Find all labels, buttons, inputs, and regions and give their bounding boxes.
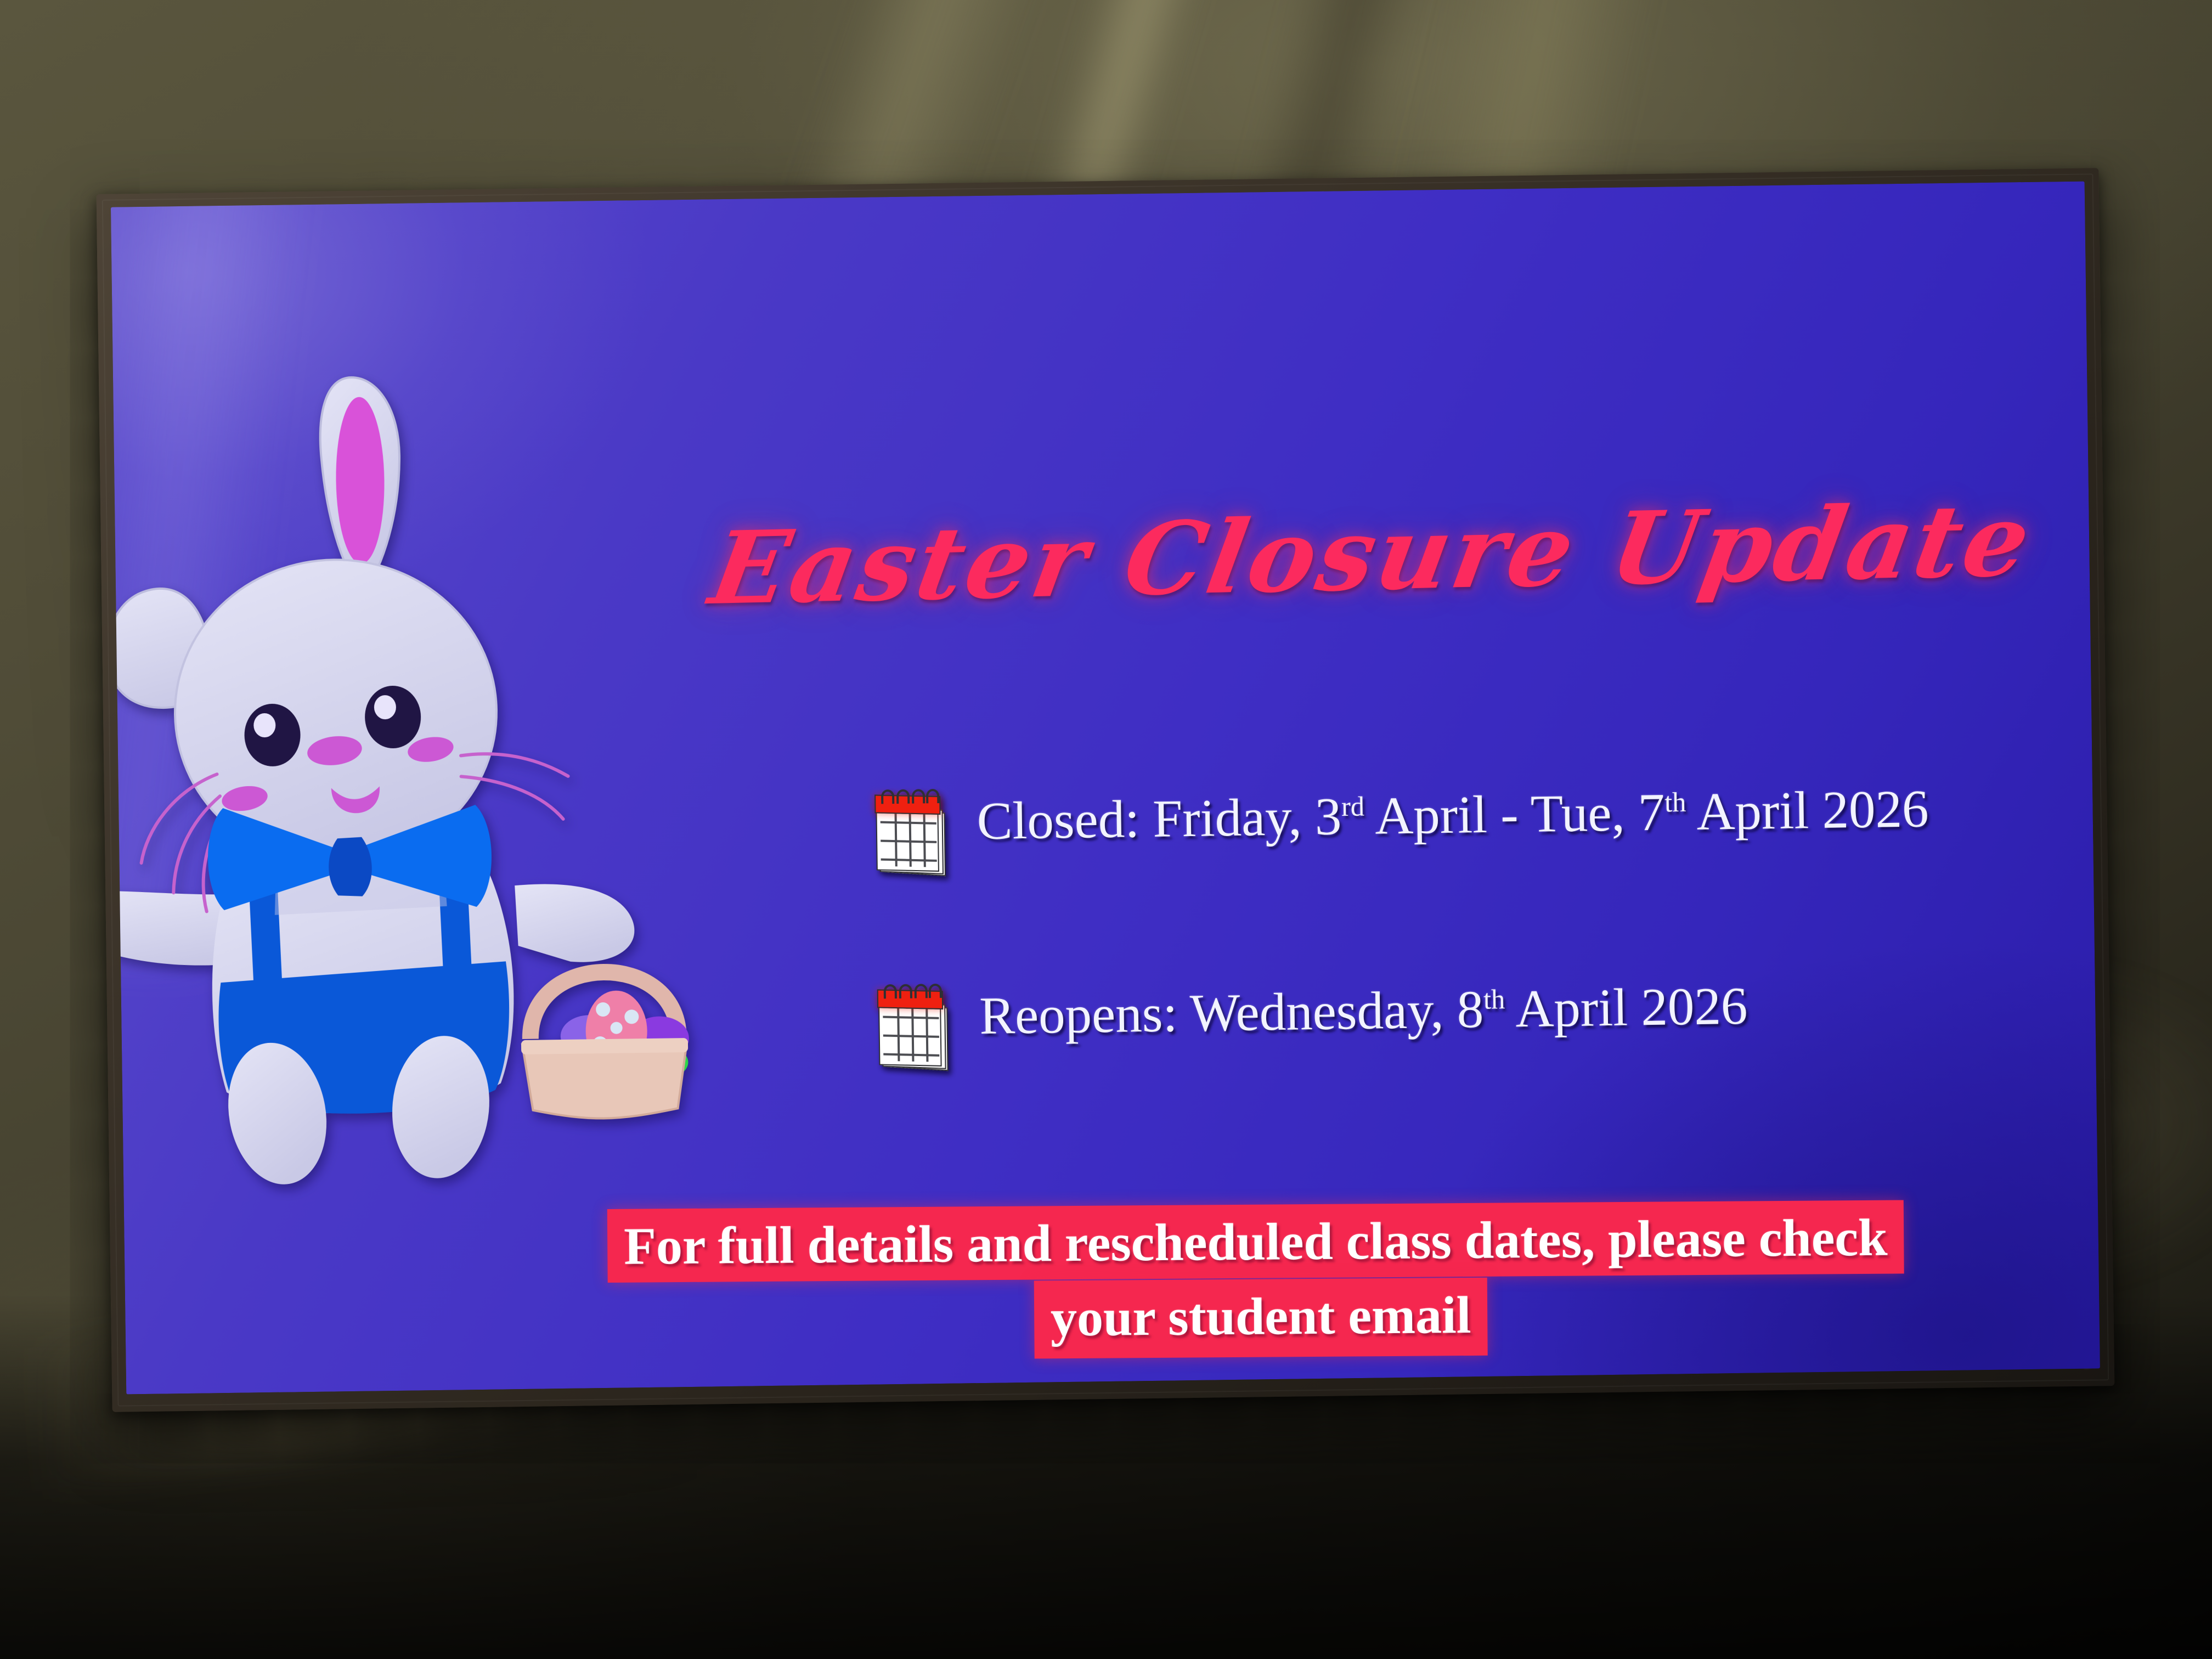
- closed-date-mid: April - Tue, 7: [1364, 783, 1665, 845]
- bullet-row-closed: Closed: Friday, 3rd April - Tue, 7th Apr…: [874, 777, 2039, 877]
- basket-rim: [521, 1038, 688, 1054]
- reopens-ordinal: th: [1483, 984, 1505, 1015]
- notice-banner-line-1-wrap: For full details and rescheduled class d…: [607, 1199, 2045, 1283]
- notice-banner: For full details and rescheduled class d…: [607, 1199, 2046, 1362]
- reopens-label: Reopens:: [979, 984, 1178, 1045]
- easter-basket: [520, 971, 690, 1119]
- easter-bunny-illustration: [111, 329, 710, 1193]
- closed-ordinal-1: rd: [1341, 791, 1365, 822]
- notice-banner-line-2-wrap: your student email: [608, 1274, 2046, 1362]
- bullet-row-reopens: Reopens: Wednesday, 8th April 2026: [877, 971, 2096, 1071]
- wall-mounted-display: Easter Closure Update: [97, 168, 2115, 1412]
- reopens-date-mid: April 2026: [1505, 977, 1748, 1039]
- bullet-text-closed: Closed: Friday, 3rd April - Tue, 7th Apr…: [977, 778, 1929, 851]
- notice-banner-line-2: your student email: [1034, 1278, 1488, 1359]
- bullet-text-reopens: Reopens: Wednesday, 8th April 2026: [979, 976, 1748, 1046]
- reopens-date-start: Wednesday, 8: [1189, 980, 1484, 1042]
- closed-date-start: Friday, 3: [1153, 787, 1342, 848]
- display-screen: Easter Closure Update: [111, 182, 2100, 1395]
- closed-year: 2026: [1822, 779, 1929, 839]
- calendar-icon: [877, 989, 952, 1072]
- room-wall: Easter Closure Update: [0, 0, 2212, 1659]
- closed-date-tail: April: [1686, 781, 1809, 841]
- notice-banner-line-1: For full details and rescheduled class d…: [607, 1200, 1904, 1282]
- page-title: Easter Closure Update: [704, 492, 1930, 618]
- closed-ordinal-2: th: [1664, 787, 1686, 818]
- closed-label: Closed:: [977, 789, 1140, 850]
- bunny-right-arm: [515, 883, 635, 963]
- calendar-icon: [874, 794, 949, 877]
